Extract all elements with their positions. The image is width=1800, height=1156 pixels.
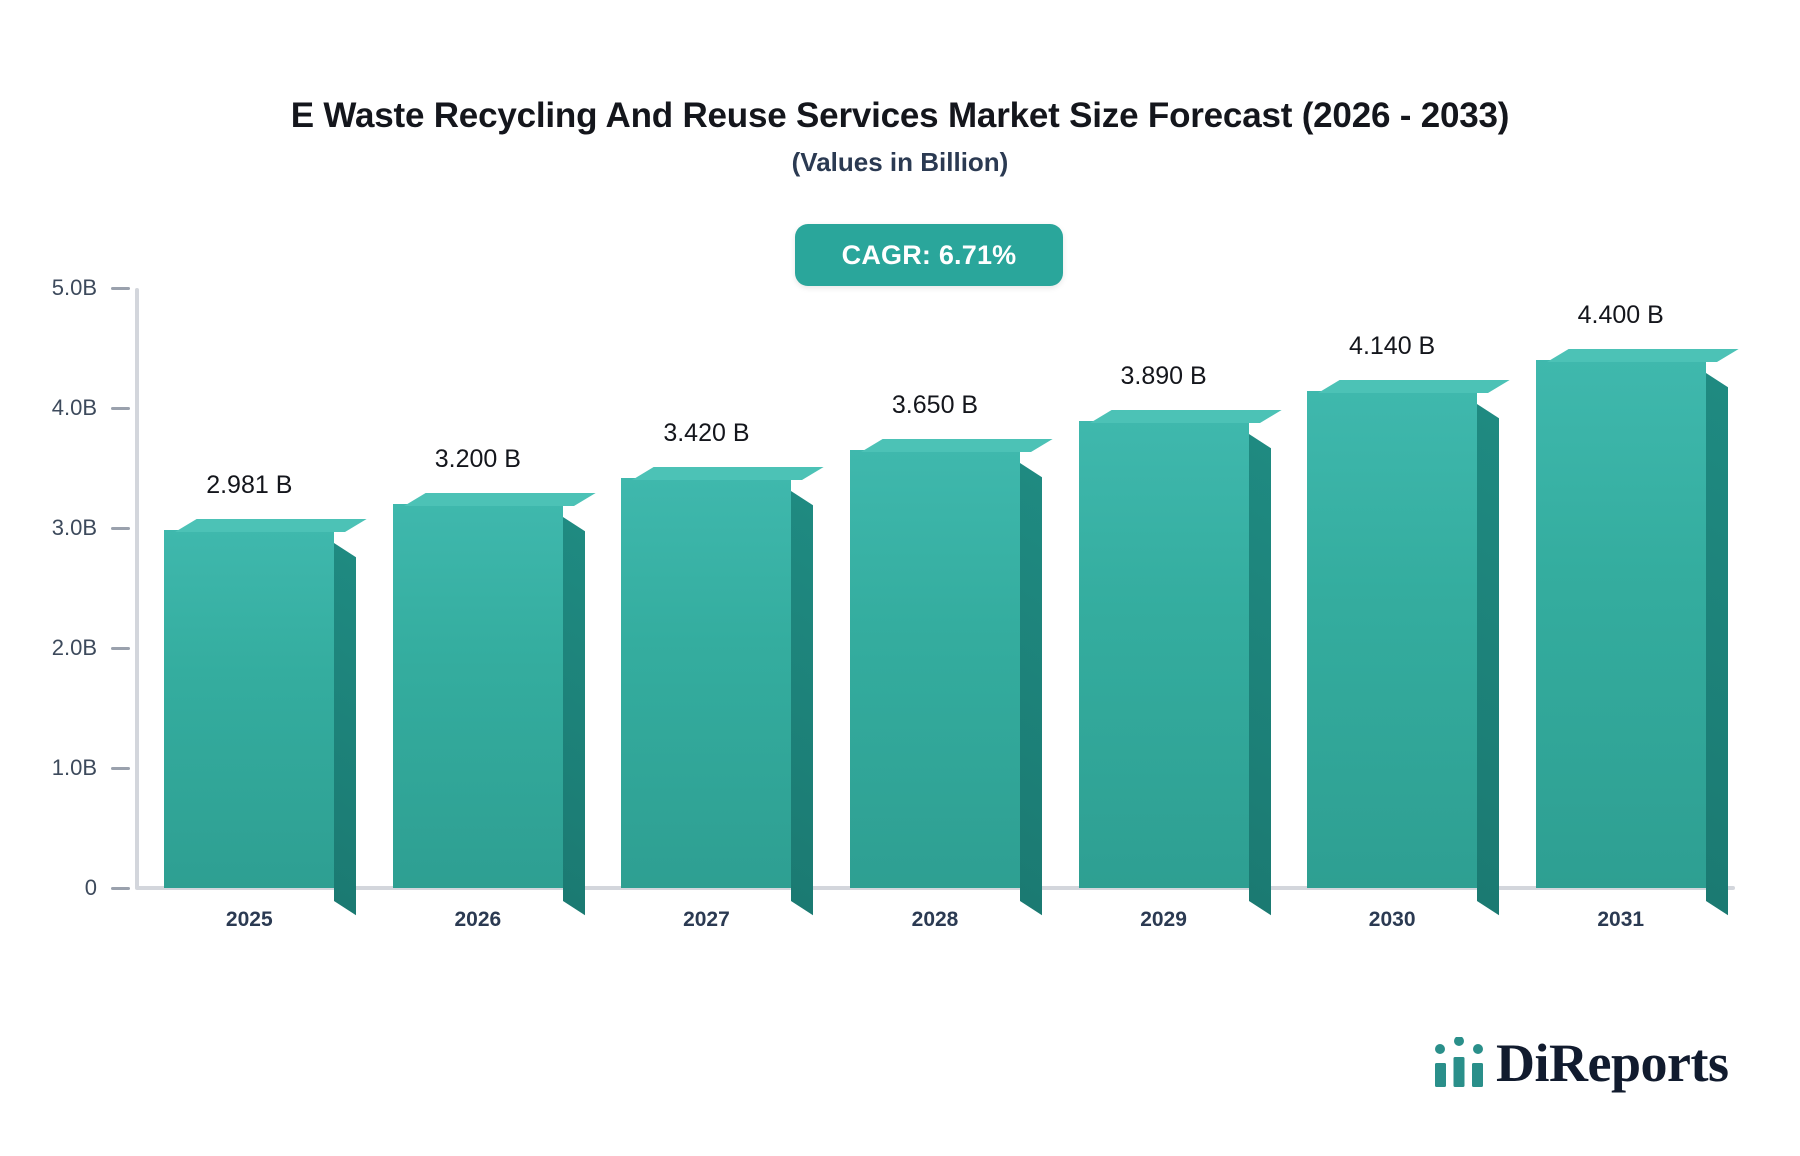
x-tick-label: 2031 xyxy=(1597,908,1644,932)
bar-value-label: 3.890 B xyxy=(1120,362,1206,391)
direports-logo: DiReports xyxy=(1432,1036,1728,1090)
bar-chart-logo-icon xyxy=(1432,1037,1488,1089)
x-tick-label: 2028 xyxy=(912,908,959,932)
bar[interactable] xyxy=(393,504,563,888)
chart-subtitle: (Values in Billion) xyxy=(0,147,1800,178)
y-tick-label: 3.0B xyxy=(52,515,130,541)
bar-column[interactable]: 4.140 B xyxy=(1307,288,1477,888)
page-title: E Waste Recycling And Reuse Services Mar… xyxy=(0,96,1800,136)
bar-column[interactable]: 3.890 B xyxy=(1079,288,1249,888)
bar-top-face xyxy=(404,493,596,506)
bar[interactable] xyxy=(621,478,791,888)
bar-series: 2.981 B3.200 B3.420 B3.650 B3.890 B4.140… xyxy=(135,288,1735,888)
y-tick-label: 4.0B xyxy=(52,395,130,421)
x-tick-label: 2027 xyxy=(683,908,730,932)
x-tick-label: 2030 xyxy=(1369,908,1416,932)
y-tick-dash xyxy=(111,767,130,770)
y-tick-dash xyxy=(111,527,130,530)
logo-text: DiReports xyxy=(1496,1036,1728,1090)
x-tick-label: 2025 xyxy=(226,908,273,932)
bar-value-label: 3.200 B xyxy=(435,445,521,474)
y-tick-dash xyxy=(111,887,130,890)
y-tick-label: 5.0B xyxy=(52,275,130,301)
bar-value-label: 3.420 B xyxy=(663,419,749,448)
y-tick-label: 2.0B xyxy=(52,635,130,661)
bar[interactable] xyxy=(1307,391,1477,888)
y-tick-label: 1.0B xyxy=(52,755,130,781)
bar-side-face xyxy=(563,517,585,915)
bar-top-face xyxy=(632,467,824,480)
bar-front-face xyxy=(1307,391,1477,888)
bar-value-label: 4.140 B xyxy=(1349,332,1435,361)
bar-column[interactable]: 3.420 B xyxy=(621,288,791,888)
bar[interactable] xyxy=(1079,421,1249,888)
bar-side-face xyxy=(1249,434,1271,915)
bar-value-label: 2.981 B xyxy=(206,471,292,500)
bar-column[interactable]: 3.650 B xyxy=(850,288,1020,888)
bar-side-face xyxy=(334,543,356,915)
bar-top-face xyxy=(1547,349,1739,362)
bar-top-face xyxy=(861,439,1053,452)
bar-front-face xyxy=(1536,360,1706,888)
cagr-badge: CAGR: 6.71% xyxy=(795,224,1063,286)
y-tick-label: 0 xyxy=(85,875,130,901)
chart-canvas: E Waste Recycling And Reuse Services Mar… xyxy=(0,0,1800,1156)
bar-side-face xyxy=(1477,404,1499,915)
bar-column[interactable]: 2.981 B xyxy=(164,288,334,888)
bar-value-label: 4.400 B xyxy=(1578,301,1664,330)
y-tick-dash xyxy=(111,647,130,650)
bar-top-face xyxy=(175,519,367,532)
bar[interactable] xyxy=(1536,360,1706,888)
bar-column[interactable]: 4.400 B xyxy=(1536,288,1706,888)
bar-top-face xyxy=(1318,380,1510,393)
bar-front-face xyxy=(393,504,563,888)
y-tick-dash xyxy=(111,287,130,290)
bar-top-face xyxy=(1090,410,1282,423)
bar[interactable] xyxy=(164,530,334,888)
bar-front-face xyxy=(621,478,791,888)
bar-side-face xyxy=(1706,373,1728,915)
x-tick-label: 2029 xyxy=(1140,908,1187,932)
x-tick-label: 2026 xyxy=(454,908,501,932)
bar[interactable] xyxy=(850,450,1020,888)
bar-front-face xyxy=(850,450,1020,888)
y-axis-ticks: 01.0B2.0B3.0B4.0B5.0B xyxy=(0,0,130,1156)
bar-side-face xyxy=(791,491,813,916)
bar-value-label: 3.650 B xyxy=(892,391,978,420)
bar-column[interactable]: 3.200 B xyxy=(393,288,563,888)
y-tick-dash xyxy=(111,407,130,410)
bar-front-face xyxy=(1079,421,1249,888)
bar-front-face xyxy=(164,530,334,888)
bar-side-face xyxy=(1020,463,1042,915)
